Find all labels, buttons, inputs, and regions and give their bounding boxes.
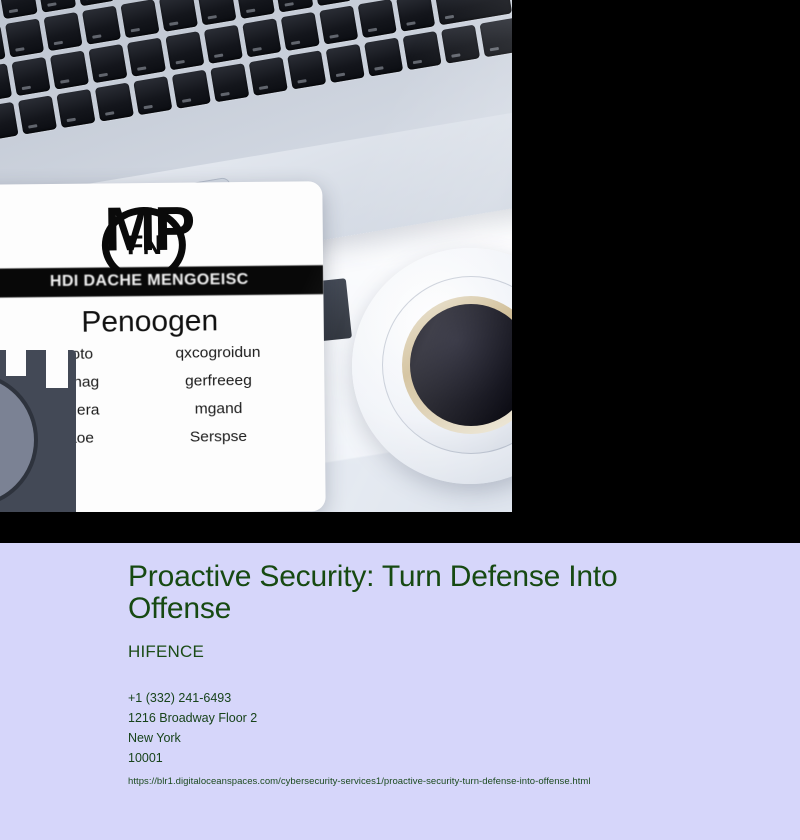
keyboard-key	[287, 50, 326, 89]
bracket-notch	[6, 350, 26, 376]
keyboard-key	[396, 0, 435, 32]
contact-postal-code: 10001	[128, 748, 800, 768]
keyboard-key	[76, 0, 115, 6]
keyboard-key	[5, 18, 44, 57]
keyboard-key	[165, 31, 204, 70]
keyboard-key	[281, 12, 320, 51]
sign-word: qxcogroidun	[175, 344, 260, 362]
keyboard-key	[127, 38, 166, 77]
sign-subtitle: Penoogen	[0, 294, 324, 345]
sign-logo: MP FN	[0, 181, 323, 269]
sign-word: gerfreeeg	[185, 372, 252, 390]
hero-band: MP FN HDI DACHE MENGOEISC Penoogen xcgot…	[0, 0, 800, 543]
sign-strip-text: HDI DACHE MENGOEISC	[0, 265, 323, 298]
brand-name: HIFENCE	[128, 642, 800, 662]
keyboard-key	[159, 0, 198, 32]
page-title: Proactive Security: Turn Defense Into Of…	[128, 561, 688, 625]
sign-word-column: qxcogroidun gerfreeeg mgand Serspse	[177, 344, 260, 446]
keyboard-key	[326, 44, 365, 83]
keyboard-key	[82, 6, 121, 45]
keyboard-key	[274, 0, 313, 13]
keyboard-key	[204, 25, 243, 64]
source-url[interactable]: https://blr1.digitaloceanspaces.com/cybe…	[128, 776, 800, 787]
keyboard-key	[37, 0, 76, 13]
keyboard-key	[197, 0, 236, 25]
keyboard-key	[479, 12, 512, 58]
keyboard-key	[56, 89, 95, 128]
keyboard-key	[249, 57, 288, 96]
keyboard-key	[43, 12, 82, 51]
keyboard-key	[358, 0, 397, 38]
keyboard-key	[95, 82, 134, 121]
sign-word: mgand	[194, 400, 242, 417]
keyboard-key	[11, 57, 50, 96]
keyboard-key	[319, 5, 358, 44]
contact-city: New York	[128, 728, 800, 748]
bracket-notch	[46, 350, 68, 388]
keyboard-key	[236, 0, 275, 19]
keyboard-key	[0, 0, 38, 19]
keyboard-key	[0, 25, 6, 64]
keyboard-key	[0, 102, 19, 141]
hero-image: MP FN HDI DACHE MENGOEISC Penoogen xcgot…	[0, 0, 512, 512]
keyboard-key	[120, 0, 159, 38]
contact-phone[interactable]: +1 (332) 241-6493	[128, 688, 800, 708]
keyboard-key	[172, 70, 211, 109]
keyboard-key	[403, 31, 442, 70]
keyboard-key	[313, 0, 352, 6]
dark-bracket-object	[0, 350, 76, 512]
keyboard-key	[0, 63, 12, 102]
content-area: Proactive Security: Turn Defense Into Of…	[0, 543, 800, 787]
keyboard-key	[50, 50, 89, 89]
contact-address-line1: 1216 Broadway Floor 2	[128, 708, 800, 728]
keyboard-key	[18, 95, 57, 134]
sign-word: Serspse	[190, 428, 247, 446]
keyboard-key	[133, 76, 172, 115]
keyboard-key	[242, 18, 281, 57]
keyboard-key	[88, 44, 127, 83]
keyboard-key	[441, 25, 480, 64]
keyboard-key	[210, 63, 249, 102]
keyboard-key	[364, 37, 403, 76]
contact-block: +1 (332) 241-6493 1216 Broadway Floor 2 …	[128, 688, 800, 769]
